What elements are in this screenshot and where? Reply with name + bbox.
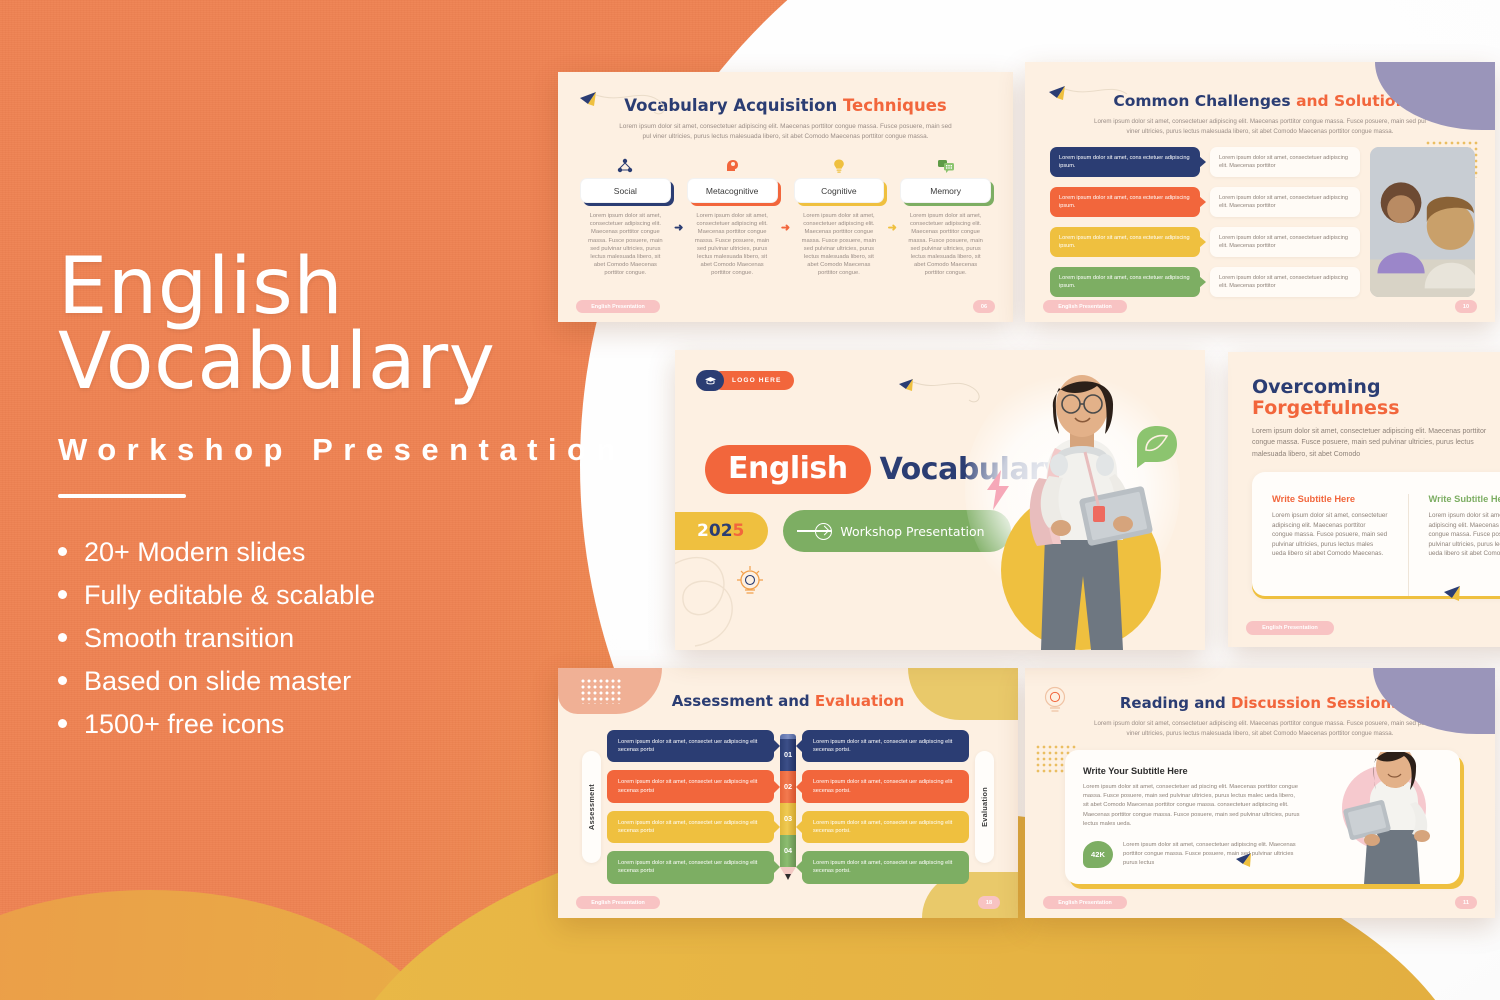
page-number-badge: 06 [973,300,995,313]
title-accent: Forgetfulness [1252,398,1400,419]
arrow-right-icon: ➜ [671,150,687,278]
footer-badge: English Presentation [576,896,660,909]
list-item: 20+ Modern slides [58,532,678,572]
step-body: Lorem ipsum dolor sit amet, consectetuer… [900,212,991,278]
feature-label: 20+ Modern slides [84,532,305,572]
promo-subtitle: Workshop Presentation [58,432,678,468]
challenges-grid: Lorem ipsum dolor sit amet, cons ectetue… [1050,147,1475,297]
idea-bulb-icon [730,562,770,602]
content-card[interactable]: Write Your Subtitle Here Lorem ipsum dol… [1065,750,1460,884]
assessment-item[interactable]: Lorem ipsum dolor sit amet, consectet ue… [607,811,774,843]
page-number-badge: 18 [978,896,1000,909]
title-main: Overcoming [1252,376,1381,398]
evaluation-column: Lorem ipsum dolor sit amet, consectet ue… [802,730,969,884]
promo-title-line2: Vocabulary [58,325,678,400]
stat-body: Lorem ipsum dolor sit amet, consectetuer… [1123,841,1308,869]
pencil-lead [785,874,791,880]
feature-label: 1500+ free icons [84,704,284,744]
title-main: Reading and [1120,694,1231,712]
step-cognitive[interactable]: Cognitive Lorem ipsum dolor sit amet, co… [794,150,885,278]
arrow-circle-icon [797,530,831,531]
step-label: Metacognitive [687,178,778,203]
solution-item[interactable]: Lorem ipsum dolor sit amet, consectetuer… [1210,267,1360,297]
footer-badge: English Presentation [1043,300,1127,313]
solution-item[interactable]: Lorem ipsum dolor sit amet, consectetuer… [1210,147,1360,177]
step-label: Social [580,178,671,203]
title-accent: Techniques [843,96,947,115]
slide-overcoming-forgetfulness[interactable]: Overcoming Forgetfulness Lorem ipsum dol… [1228,352,1500,647]
page-number-badge: 10 [1455,300,1477,313]
axis-label-text: Evaluation [980,787,989,827]
arrow-right-icon: ➜ [778,150,794,278]
slide-reading-discussion[interactable]: Reading and Discussion Sessions Lorem ip… [1025,668,1495,918]
title-accent: Discussion Sessions [1231,694,1400,712]
evaluation-item[interactable]: Lorem ipsum dolor sit amet, consectet ue… [802,770,969,802]
network-icon [580,150,671,174]
stat-badge: 42K [1083,841,1113,868]
axis-label-text: Assessment [587,784,596,830]
pencil-infographic: 01 02 03 04 [780,734,796,880]
yellow-decor-shape [908,668,1018,720]
page-number-badge: 11 [1455,896,1477,909]
pencil-step-number: 03 [780,803,796,835]
page-lead: Lorem ipsum dolor sit amet, consectetuer… [1087,117,1433,136]
page-title: Overcoming Forgetfulness [1252,377,1400,420]
subtitle-card[interactable]: Write Subtitle Here Lorem ipsum dolor si… [1252,494,1408,596]
feature-label: Based on slide master [84,661,351,701]
feature-label: Fully editable & scalable [84,575,375,615]
step-memory[interactable]: Memory Lorem ipsum dolor sit amet, conse… [900,150,991,278]
page-lead: Lorem ipsum dolor sit amet, consectetuer… [1252,426,1500,460]
solution-item[interactable]: Lorem ipsum dolor sit amet, consectetuer… [1210,187,1360,217]
promo-divider [58,494,186,498]
assessment-diagram: Assessment Lorem ipsum dolor sit amet, c… [582,730,994,884]
subtitle-cards: Write Subtitle Here Lorem ipsum dolor si… [1252,472,1500,596]
logo-badge[interactable]: LOGO HERE [696,370,794,391]
step-body: Lorem ipsum dolor sit amet, consectetuer… [580,212,671,278]
assessment-item[interactable]: Lorem ipsum dolor sit amet, consectet ue… [607,730,774,762]
title-accent: Evaluation [815,692,904,710]
challenges-column: Lorem ipsum dolor sit amet, cons ectetue… [1050,147,1200,297]
title-main: Common Challenges [1113,92,1296,110]
bullet-icon [58,633,67,642]
title-main: Assessment and [672,692,815,710]
feature-label: Smooth transition [84,618,294,658]
lightbulb-icon [794,150,885,174]
evaluation-item[interactable]: Lorem ipsum dolor sit amet, consectet ue… [802,730,969,762]
assessment-axis-label: Assessment [582,751,601,863]
steps-flow: Social Lorem ipsum dolor sit amet, conse… [580,150,991,278]
card-heading: Write Subtitle Here [1429,494,1500,504]
card-body: Lorem ipsum dolor sit amet, consectetuer… [1272,511,1388,559]
cta-label: Workshop Presentation [840,524,984,539]
assessment-column: Lorem ipsum dolor sit amet, consectet ue… [607,730,774,884]
student-photo [987,368,1177,650]
solutions-column: Lorem ipsum dolor sit amet, consectetuer… [1210,147,1360,297]
footer-badge: English Presentation [576,300,660,313]
hero-meta-row: 2025 Workshop Presentation [675,510,1011,552]
pencil-step-number: 01 [780,739,796,771]
challenge-item[interactable]: Lorem ipsum dolor sit amet, cons ectetue… [1050,147,1200,177]
dot-grid-decor [580,678,622,704]
pencil-step-number: 04 [780,835,796,867]
step-body: Lorem ipsum dolor sit amet, consectetuer… [687,212,778,278]
challenge-item[interactable]: Lorem ipsum dolor sit amet, cons ectetue… [1050,227,1200,257]
arrow-right-icon: ➜ [884,150,900,278]
solution-item[interactable]: Lorem ipsum dolor sit amet, consectetuer… [1210,227,1360,257]
list-item: Smooth transition [58,618,678,658]
presenter-photo [1324,752,1442,884]
page-lead: Lorem ipsum dolor sit amet, consectetuer… [618,122,953,142]
challenge-item[interactable]: Lorem ipsum dolor sit amet, cons ectetue… [1050,187,1200,217]
evaluation-item[interactable]: Lorem ipsum dolor sit amet, consectet ue… [802,851,969,883]
evaluation-axis-label: Evaluation [975,751,994,863]
students-photo [1370,147,1475,297]
bullet-icon [58,547,67,556]
assessment-item[interactable]: Lorem ipsum dolor sit amet, consectet ue… [607,851,774,883]
page-title: Vocabulary Acquisition Techniques [558,96,1013,115]
title-main: Vocabulary Acquisition [624,96,843,115]
chat-bubbles-icon [900,150,991,174]
card-body: Lorem ipsum dolor sit amet, consectetuer… [1083,783,1301,829]
step-label: Cognitive [794,178,885,203]
assessment-item[interactable]: Lorem ipsum dolor sit amet, consectet ue… [607,770,774,802]
list-item: Fully editable & scalable [58,575,678,615]
step-social[interactable]: Social Lorem ipsum dolor sit amet, conse… [580,150,671,278]
year-badge: 2025 [675,512,768,550]
hero-title-badge: English [705,445,871,494]
slide-common-challenges[interactable]: Common Challenges and Solution Lorem ips… [1025,62,1495,322]
step-metacognitive[interactable]: Metacognitive Lorem ipsum dolor sit amet… [687,150,778,278]
subtitle-card[interactable]: Write Subtitle Here Lorem ipsum dolor si… [1408,494,1500,596]
bullet-icon [58,676,67,685]
step-body: Lorem ipsum dolor sit amet, consectetuer… [794,212,885,278]
graduation-cap-icon [696,370,724,391]
footer-badge: English Presentation [1043,896,1127,909]
slide-assessment-evaluation[interactable]: Assessment and Evaluation Assessment Lor… [558,668,1018,918]
pencil-step-number: 02 [780,771,796,803]
card-heading: Write Subtitle Here [1272,494,1388,504]
step-label: Memory [900,178,991,203]
bullet-icon [58,590,67,599]
footer-badge: English Presentation [1246,621,1334,635]
brain-head-icon [687,150,778,174]
page-lead: Lorem ipsum dolor sit amet, consectetuer… [1087,719,1433,738]
evaluation-item[interactable]: Lorem ipsum dolor sit amet, consectet ue… [802,811,969,843]
slide-title-hero[interactable]: LOGO HERE English Vocabulary 2025 Worksh… [675,350,1205,650]
bullet-icon [58,719,67,728]
slide-vocabulary-acquisition[interactable]: Vocabulary Acquisition Techniques Lorem … [558,72,1013,322]
logo-label: LOGO HERE [712,371,794,390]
card-body: Lorem ipsum dolor sit amet, consectetuer… [1429,511,1500,559]
challenge-item[interactable]: Lorem ipsum dolor sit amet, cons ectetue… [1050,267,1200,297]
